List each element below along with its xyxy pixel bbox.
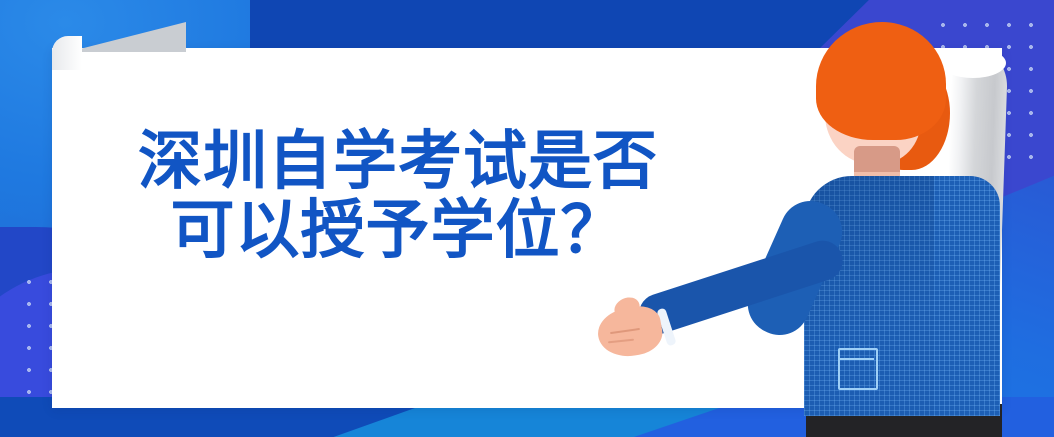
neck-shadow xyxy=(854,146,900,172)
hair xyxy=(816,22,946,140)
pocket-line xyxy=(840,358,874,360)
paper-curl-left-edge xyxy=(52,36,82,70)
promo-banner: 深圳自学考试是否 可以授予学位？ xyxy=(0,0,1054,437)
pocket-icon xyxy=(838,348,878,390)
person-illustration xyxy=(576,8,996,437)
